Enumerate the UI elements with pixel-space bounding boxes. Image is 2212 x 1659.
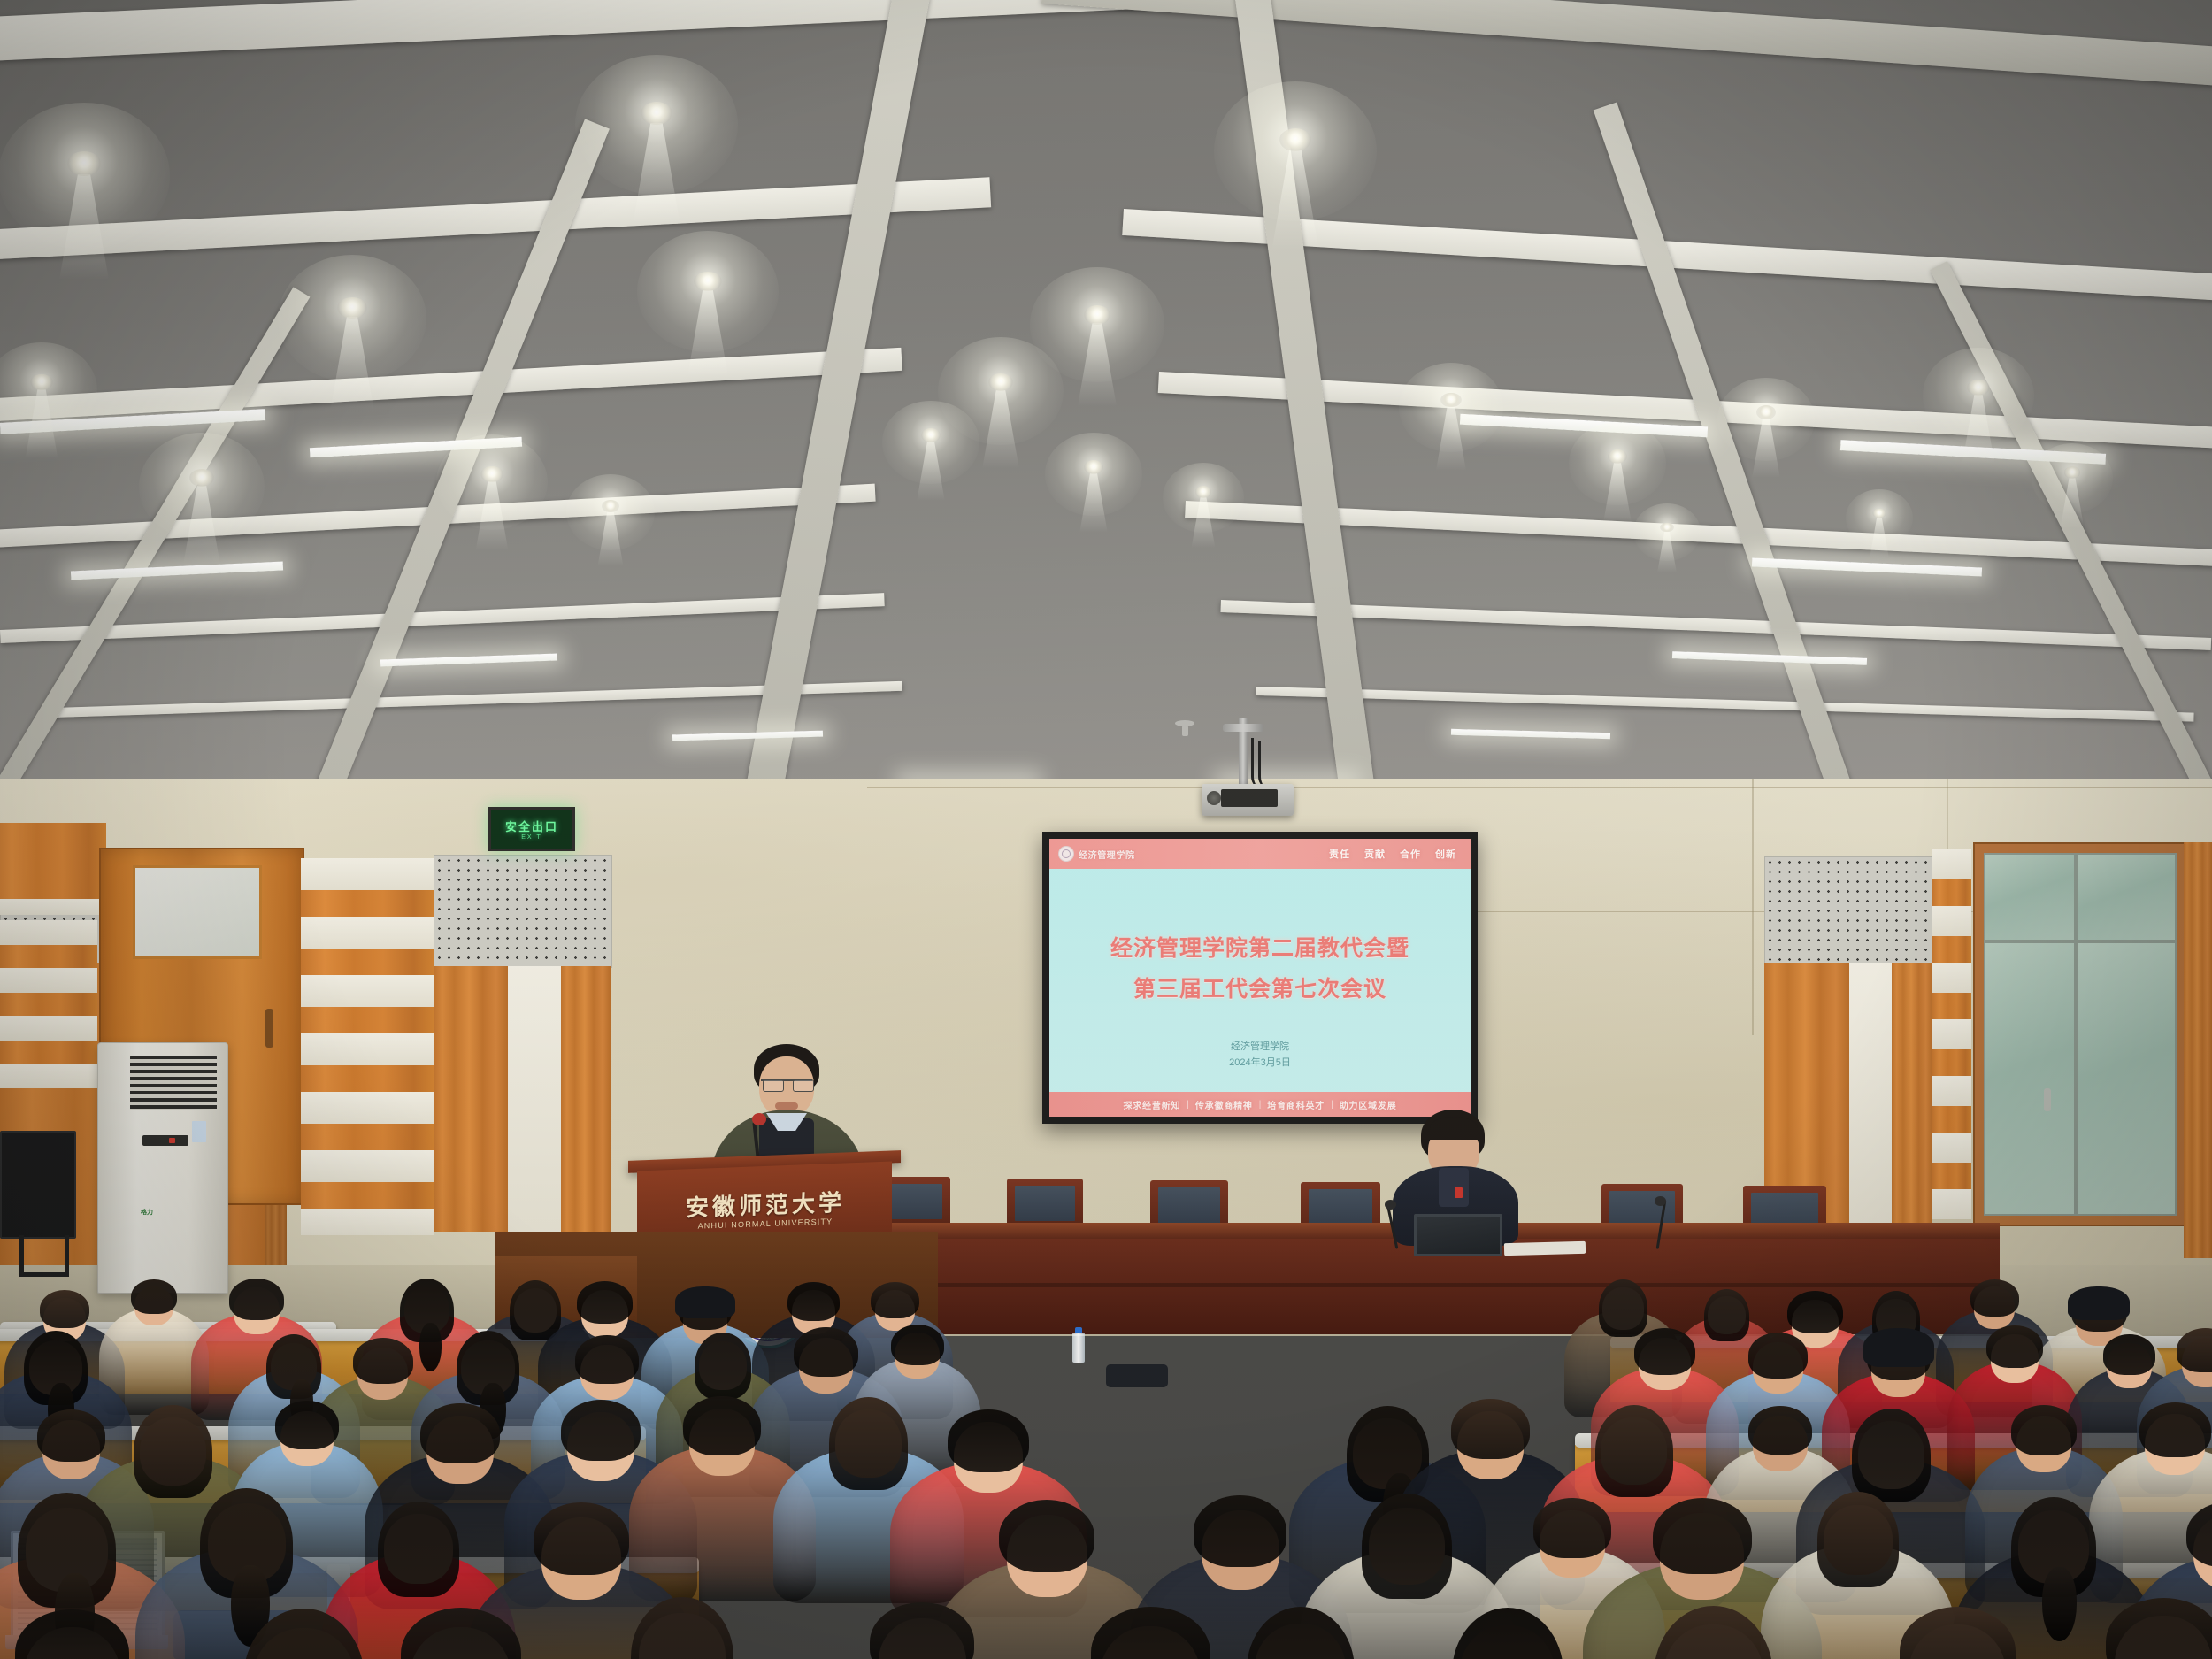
lecture-hall-photo: 安全出口 EXIT 经济管理学院 责任 贡献 [0,0,2212,1659]
audience-member-hair [1986,1325,2043,1369]
audience-member-hair [131,1279,176,1314]
audience-member-hair [577,1281,633,1324]
audience-member-hair [275,1401,339,1449]
audience-member-hair [15,1609,128,1659]
audience-member-hair [1451,1399,1530,1459]
audience-member-hair [1900,1607,2016,1659]
audience-member-hair [2011,1405,2077,1455]
audience-member-hair [891,1325,944,1365]
audience-member-hair [1595,1405,1673,1497]
audience-member-hair [683,1396,761,1455]
audience-member-hair [948,1409,1030,1472]
audience-member-hair [1362,1494,1451,1599]
audience-member-hair [631,1597,733,1659]
audience-member-hair [1654,1606,1772,1659]
audience-member-hair [871,1282,918,1318]
audience-member-hair [1817,1492,1899,1587]
audience-member-hair [575,1335,638,1384]
audience-member-hair [999,1500,1094,1573]
audience-member-hat [675,1286,734,1319]
audience-member-hair [1634,1328,1695,1375]
audience-member-hair [870,1602,973,1659]
audience-member-hair [2177,1328,2212,1372]
audience-member-hair [695,1333,751,1399]
audience-member [2017,1598,2212,1659]
audience-member-hat [1863,1328,1935,1367]
audience-member-hair [353,1338,413,1384]
audience-member-hair [1852,1409,1931,1502]
audience-member-hair [1653,1498,1752,1574]
audience-member-hair [1748,1333,1809,1379]
audience-member-hair [2186,1502,2212,1568]
audience-member-hair [40,1290,90,1328]
audience-member-hair [229,1279,284,1320]
audience-member-hat [2068,1286,2130,1320]
audience-member-hair [1247,1607,1355,1659]
audience-member-hair [378,1502,459,1597]
audience-member-hair [1194,1495,1286,1566]
audience-member-hair [134,1405,212,1498]
audience-member-hair [420,1403,499,1463]
audience-member-hair [534,1502,629,1575]
audience-member-hair [1452,1608,1563,1659]
audience [0,0,2212,1659]
audience-member-hair [1970,1279,2019,1317]
audience-member-hair [401,1608,521,1659]
audience-member-hair [2106,1598,2212,1659]
